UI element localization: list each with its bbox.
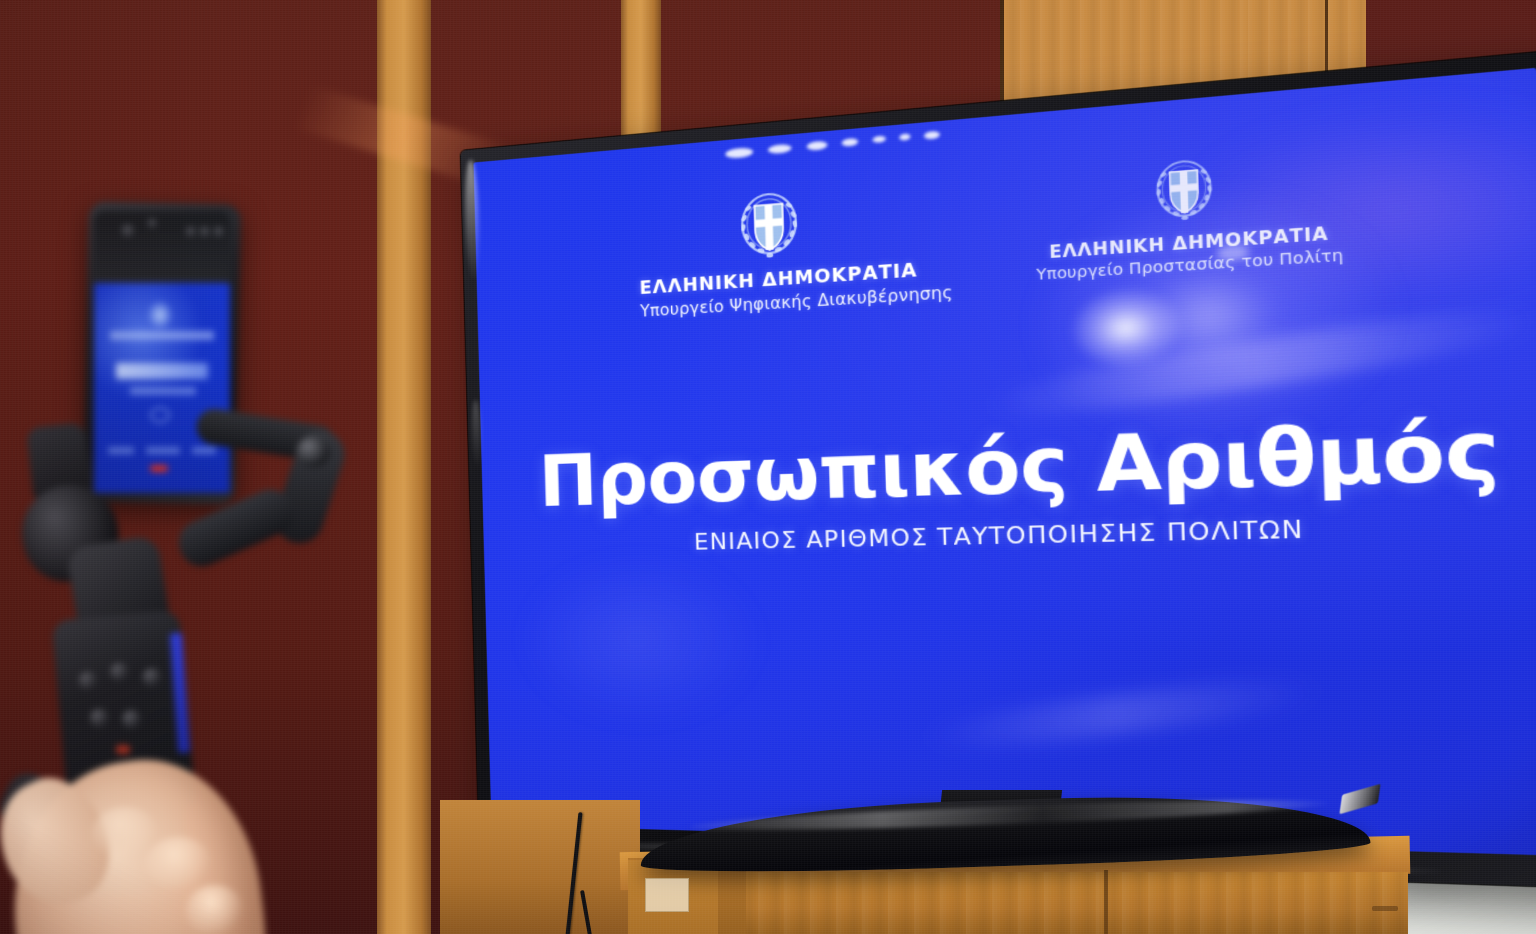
photo-scene: ΕΛΛΗΝΙΚΗ ΔΗΜΟΚΡΑΤΙΑ Υπουργείο Ψηφιακής Δ… bbox=[0, 0, 1536, 934]
phone-tab-3[interactable] bbox=[192, 447, 216, 454]
ministry-logo-row: ΕΛΛΗΝΙΚΗ ΔΗΜΟΚΡΑΤΙΑ Υπουργείο Ψηφιακής Δ… bbox=[623, 145, 1345, 321]
smartphone-top-section bbox=[94, 211, 230, 293]
greek-coat-of-arms-icon bbox=[1153, 155, 1216, 225]
phone-headline-text bbox=[116, 363, 208, 379]
gimbal-motor-knob[interactable] bbox=[296, 437, 330, 467]
television[interactable]: ΕΛΛΗΝΙΚΗ ΔΗΜΟΚΡΑΤΙΑ Υπουργείο Ψηφιακής Δ… bbox=[461, 51, 1536, 888]
gimbal-button-down-icon[interactable] bbox=[122, 710, 142, 730]
phone-record-ring-icon[interactable] bbox=[150, 407, 170, 423]
phone-subline-text bbox=[130, 387, 196, 395]
tv-bezel: ΕΛΛΗΝΙΚΗ ΔΗΜΟΚΡΑΤΙΑ Υπουργείο Ψηφιακής Δ… bbox=[461, 51, 1536, 888]
slide-content: ΕΛΛΗΝΙΚΗ ΔΗΜΟΚΡΑΤΙΑ Υπουργείο Ψηφιακής Δ… bbox=[473, 68, 1536, 856]
ministry-citizen-protection: ΕΛΛΗΝΙΚΗ ΔΗΜΟΚΡΑΤΙΑ Υπουργείο Προστασίας… bbox=[1033, 145, 1344, 297]
gimbal-button-mode-icon[interactable] bbox=[110, 663, 130, 683]
phone-record-button[interactable] bbox=[150, 465, 168, 472]
cabinet-door-handle[interactable] bbox=[1372, 906, 1398, 911]
hand-knuckle-1 bbox=[92, 807, 158, 859]
smartphone-screen[interactable] bbox=[94, 283, 230, 493]
gimbal-record-indicator bbox=[116, 745, 130, 754]
phone-camera-icon bbox=[122, 225, 133, 236]
cabinet-left-wood bbox=[440, 800, 640, 934]
ministry-digital-governance: ΕΛΛΗΝΙΚΗ ΔΗΜΟΚΡΑΤΙΑ Υπουργείο Ψηφιακής Δ… bbox=[637, 180, 909, 321]
gimbal-joystick-icon[interactable] bbox=[89, 708, 109, 728]
cabinet-door-seam bbox=[1104, 870, 1108, 934]
camera-rig-foreground bbox=[0, 185, 360, 934]
gimbal-button-up-icon[interactable] bbox=[78, 671, 98, 691]
phone-flash-icon bbox=[214, 227, 223, 236]
phone-sensor-icon bbox=[148, 219, 156, 227]
phone-camera-icon-3 bbox=[200, 227, 209, 236]
cabinet-paper-label bbox=[645, 878, 689, 912]
greek-coat-of-arms-icon bbox=[737, 189, 801, 263]
slide-headline: Προσωπικός Αριθμός bbox=[538, 410, 1501, 517]
slide-headline-block: Προσωπικός Αριθμός ΕΝΙΑΙΟΣ ΑΡΙΘΜΟΣ ΤΑΥΤΟ… bbox=[516, 410, 1502, 559]
phone-emblem-icon bbox=[148, 301, 172, 329]
phone-text-line-1 bbox=[110, 331, 214, 340]
gimbal-button-right-icon[interactable] bbox=[142, 668, 162, 688]
phone-tab-1[interactable] bbox=[108, 447, 134, 454]
phone-camera-icon-2 bbox=[186, 227, 195, 236]
tv-screen[interactable]: ΕΛΛΗΝΙΚΗ ΔΗΜΟΚΡΑΤΙΑ Υπουργείο Ψηφιακής Δ… bbox=[473, 68, 1536, 856]
phone-tab-2[interactable] bbox=[146, 447, 180, 454]
hand-knuckle-3 bbox=[186, 885, 244, 934]
hand-knuckle-2 bbox=[146, 837, 212, 891]
